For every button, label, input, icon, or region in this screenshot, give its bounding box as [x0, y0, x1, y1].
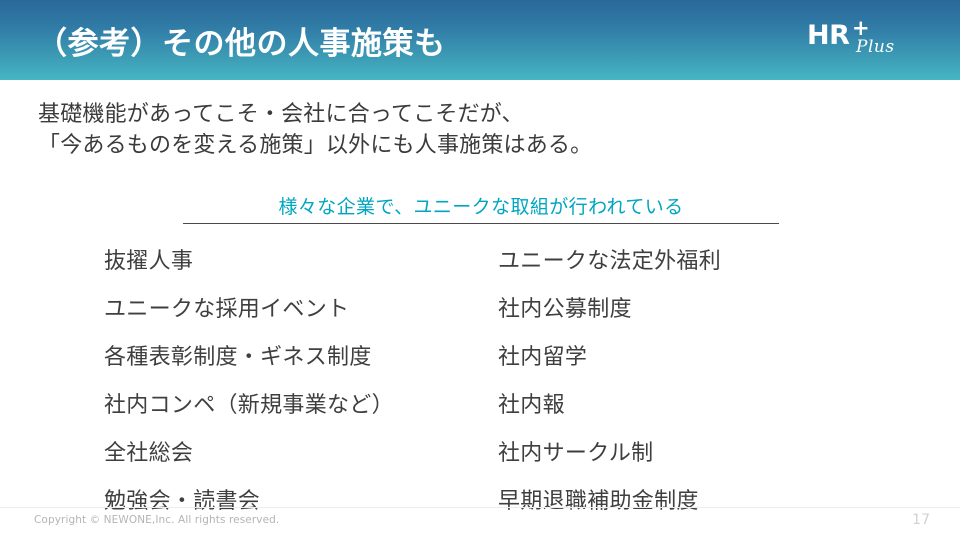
subheading-container: 様々な企業で、ユニークな取組が行われている	[183, 192, 779, 224]
list-item: ユニークな採用イベント	[104, 286, 394, 334]
logo-mark-text: HR	[807, 22, 849, 49]
page-number: 17	[912, 512, 930, 528]
slide-header: （参考）その他の人事施策も HR + Plus	[0, 0, 960, 80]
list-item: 社内留学	[498, 334, 721, 382]
list-item: ユニークな法定外福利	[498, 238, 721, 286]
practice-list-left: 抜擢人事 ユニークな採用イベント 各種表彰制度・ギネス制度 社内コンペ（新規事業…	[104, 238, 394, 526]
lead-paragraph: 基礎機能があってこそ・会社に合ってこそだが、 「今あるものを変える施策」以外にも…	[38, 99, 592, 161]
lead-line-2: 「今あるものを変える施策」以外にも人事施策はある。	[38, 130, 592, 161]
subheading-text: 様々な企業で、ユニークな取組が行われている	[278, 196, 683, 218]
footer-divider	[0, 507, 960, 508]
list-item: 社内コンペ（新規事業など）	[104, 382, 394, 430]
practice-list-right: ユニークな法定外福利 社内公募制度 社内留学 社内報 社内サークル制 早期退職補…	[498, 238, 721, 526]
list-item: 社内サークル制	[498, 430, 721, 478]
logo-plus-icon: +	[852, 18, 870, 39]
list-item: 抜擢人事	[104, 238, 394, 286]
hrplus-logo: HR + Plus	[807, 22, 912, 66]
list-item: 社内公募制度	[498, 286, 721, 334]
lead-line-1: 基礎機能があってこそ・会社に合ってこそだが、	[38, 99, 592, 130]
list-item: 全社総会	[104, 430, 394, 478]
logo-word-text: Plus	[856, 39, 895, 56]
copyright-text: Copyright © NEWONE,Inc. All rights reser…	[34, 514, 279, 526]
list-item: 各種表彰制度・ギネス制度	[104, 334, 394, 382]
list-item: 早期退職補助金制度	[498, 478, 721, 526]
list-item: 社内報	[498, 382, 721, 430]
page-title: （参考）その他の人事施策も	[36, 18, 446, 63]
